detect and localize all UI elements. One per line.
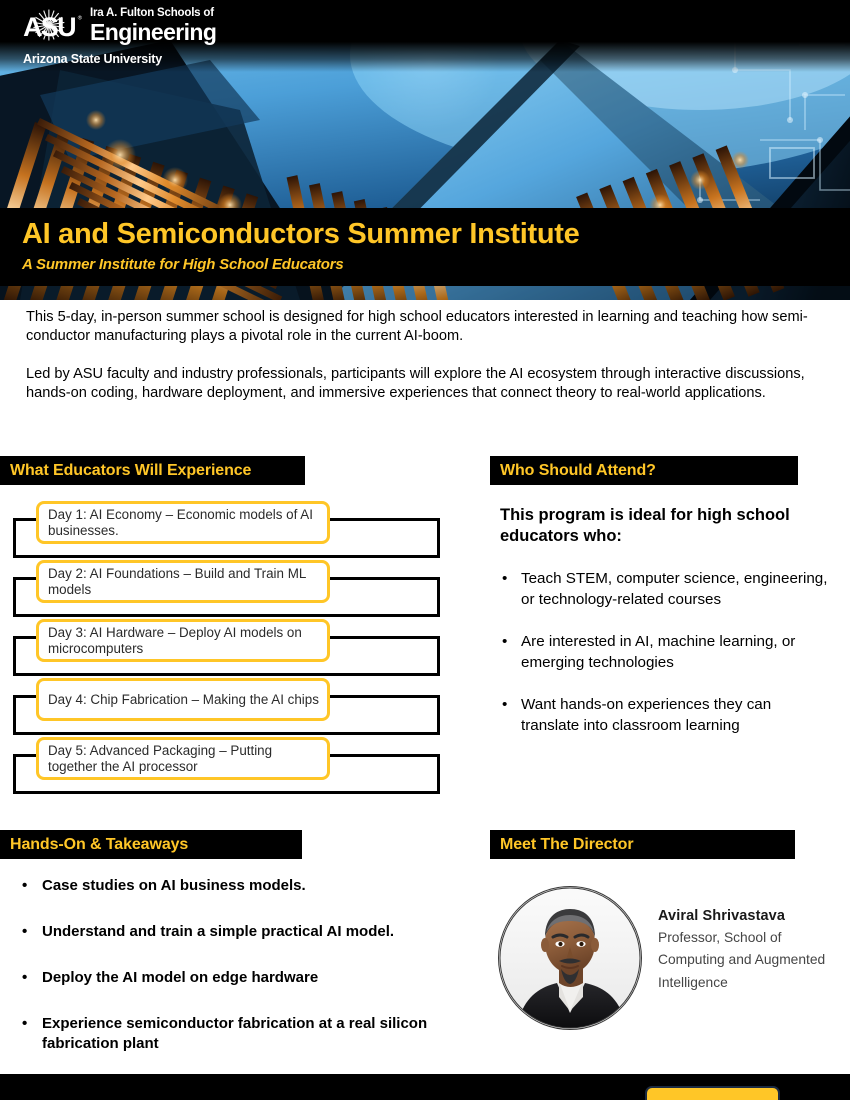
asu-engineering-label: Engineering — [90, 21, 216, 44]
bullet-icon: • — [502, 632, 507, 653]
list-item: • Deploy the AI model on edge hardware — [18, 968, 458, 988]
day-callout-box: Day 5: Advanced Packaging – Putting toge… — [36, 737, 330, 780]
day-item: Day 3: AI Hardware – Deploy AI models on… — [0, 618, 460, 677]
list-item: • Case studies on AI business models. — [18, 876, 458, 896]
day-callout-box: Day 2: AI Foundations – Build and Train … — [36, 560, 330, 603]
day-item: Day 2: AI Foundations – Build and Train … — [0, 559, 460, 618]
director-headshot-photo — [499, 887, 641, 1029]
attend-lead-text: This program is ideal for high school ed… — [500, 505, 830, 547]
day-label: Day 2: AI Foundations – Build and Train … — [48, 566, 319, 597]
footer-bar — [0, 1074, 850, 1100]
day-item: Day 5: Advanced Packaging – Putting toge… — [0, 736, 460, 795]
list-item: • Experience semiconductor fabrication a… — [18, 1014, 458, 1054]
day-item: Day 4: Chip Fabrication – Making the AI … — [0, 677, 460, 736]
hands-on-bullet-list: • Case studies on AI business models. • … — [18, 876, 458, 1054]
svg-text:®: ® — [78, 14, 83, 21]
attend-bullet-list: • Teach STEM, computer science, engineer… — [500, 569, 830, 737]
list-item-label: Deploy the AI model on edge hardware — [42, 969, 318, 986]
day-label: Day 3: AI Hardware – Deploy AI models on… — [48, 625, 319, 656]
hero-title-band: AI and Semiconductors Summer Institute A… — [0, 208, 850, 286]
director-card: Aviral Shrivastava Professor, School of … — [498, 886, 843, 1030]
hero-banner: ASU ® Ira A. Fulton Schools of Engineeri… — [0, 0, 850, 300]
asu-logo-lockup: ASU ® Ira A. Fulton Schools of Engineeri… — [22, 8, 216, 66]
bullet-icon: • — [502, 695, 507, 716]
intro-paragraph-2: Led by ASU faculty and industry professi… — [26, 365, 822, 404]
asu-university-label: Arizona State University — [23, 52, 216, 66]
list-item-label: Want hands-on experiences they can trans… — [521, 696, 771, 734]
director-title: Professor, School of Computing and Augme… — [658, 927, 843, 994]
list-item: • Want hands-on experiences they can tra… — [500, 695, 830, 737]
list-item: • Understand and train a simple practica… — [18, 922, 458, 942]
bullet-icon: • — [22, 876, 27, 896]
section-header-director: Meet The Director — [490, 830, 795, 859]
list-item-label: Understand and train a simple practical … — [42, 923, 394, 940]
avatar — [498, 886, 642, 1030]
day-callout-box: Day 4: Chip Fabrication – Making the AI … — [36, 678, 330, 721]
page-subtitle: A Summer Institute for High School Educa… — [22, 256, 344, 273]
intro-paragraphs: This 5-day, in-person summer school is d… — [26, 308, 822, 422]
section-header-experience: What Educators Will Experience — [0, 456, 305, 485]
hands-on-content: • Case studies on AI business models. • … — [18, 876, 458, 1080]
director-name: Aviral Shrivastava — [658, 908, 843, 924]
intro-paragraph-1: This 5-day, in-person summer school is d… — [26, 308, 822, 347]
section-header-hands-on: Hands-On & Takeaways — [0, 830, 302, 859]
list-item: • Are interested in AI, machine learning… — [500, 632, 830, 674]
list-item: • Teach STEM, computer science, engineer… — [500, 569, 830, 611]
asu-schools-label: Ira A. Fulton Schools of — [90, 8, 216, 20]
attend-content: This program is ideal for high school ed… — [500, 505, 830, 758]
list-item-label: Teach STEM, computer science, engineerin… — [521, 570, 827, 608]
list-item-label: Experience semiconductor fabrication at … — [42, 1015, 427, 1052]
list-item-label: Case studies on AI business models. — [42, 877, 306, 894]
day-callout-box: Day 3: AI Hardware – Deploy AI models on… — [36, 619, 330, 662]
bullet-icon: • — [22, 922, 27, 942]
svg-text:ASU: ASU — [23, 12, 75, 42]
asu-sunburst-logo-icon: ASU ® — [22, 8, 84, 42]
day-label: Day 5: Advanced Packaging – Putting toge… — [48, 743, 319, 774]
day-callout-box: Day 1: AI Economy – Economic models of A… — [36, 501, 330, 544]
director-info: Aviral Shrivastava Professor, School of … — [658, 886, 843, 994]
flyer-page: ASU ® Ira A. Fulton Schools of Engineeri… — [0, 0, 850, 1100]
day-item: Day 1: AI Economy – Economic models of A… — [0, 500, 460, 559]
day-label: Day 4: Chip Fabrication – Making the AI … — [48, 692, 319, 707]
bullet-icon: • — [22, 968, 27, 988]
bullet-icon: • — [22, 1014, 27, 1034]
section-header-attend: Who Should Attend? — [490, 456, 798, 485]
page-title: AI and Semiconductors Summer Institute — [22, 218, 579, 251]
day-label: Day 1: AI Economy – Economic models of A… — [48, 507, 319, 538]
day-schedule-list: Day 1: AI Economy – Economic models of A… — [0, 500, 460, 805]
list-item-label: Are interested in AI, machine learning, … — [521, 633, 795, 671]
bullet-icon: • — [502, 569, 507, 590]
footer-cta-button[interactable] — [645, 1086, 780, 1100]
